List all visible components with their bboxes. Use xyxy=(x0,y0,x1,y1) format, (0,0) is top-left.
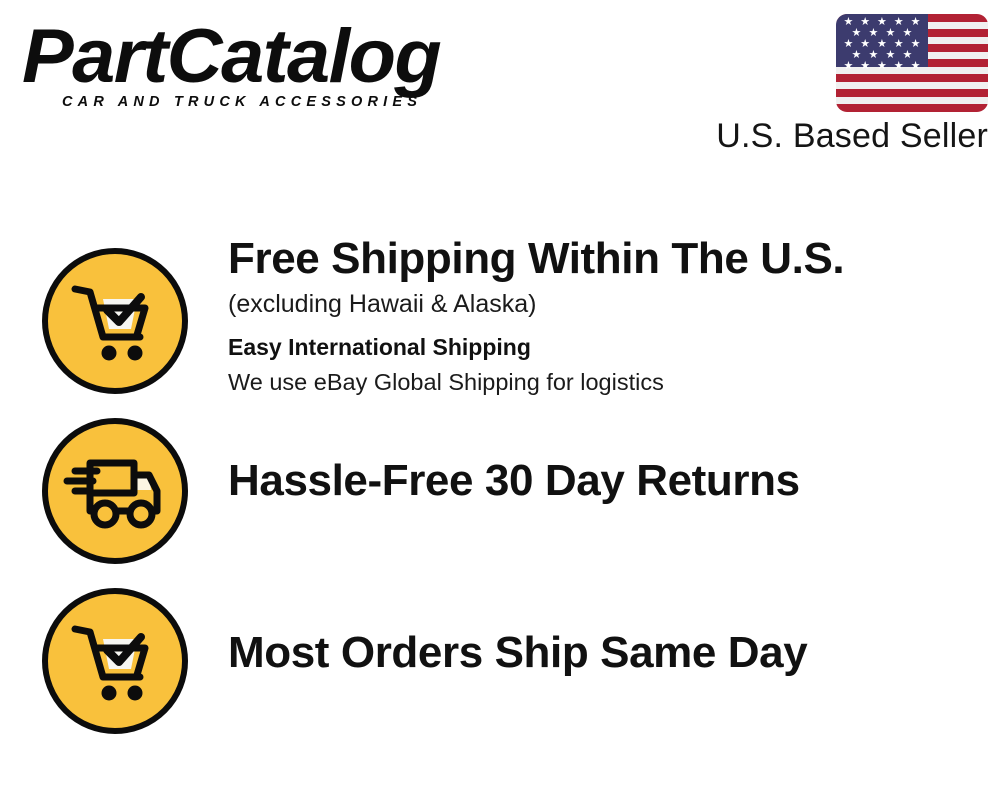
star-icon: ★ xyxy=(911,39,921,50)
logo-wordmark: PartCatalog xyxy=(22,22,501,92)
star-icon: ★ xyxy=(911,61,921,72)
benefit-heading: Hassle-Free 30 Day Returns xyxy=(228,456,1000,505)
benefit-sub-title: Easy International Shipping xyxy=(228,333,1000,363)
us-flag-icon: ★ ★ ★ ★ ★ ★ ★ ★ ★ ★ ★ ★ ★ ★ xyxy=(836,14,988,112)
shopping-cart-check-icon xyxy=(42,248,188,394)
promo-banner: PartCatalog CAR AND TRUCK ACCESSORIES ★ … xyxy=(0,0,1000,800)
benefit-heading: Free Shipping Within The U.S. xyxy=(228,234,1000,283)
benefit-heading: Most Orders Ship Same Day xyxy=(228,628,1000,677)
benefit-row: Hassle-Free 30 Day Returns xyxy=(0,408,1000,580)
star-icon: ★ xyxy=(860,61,870,72)
benefit-note: (excluding Hawaii & Alaska) xyxy=(228,288,1000,321)
benefit-sub-text: We use eBay Global Shipping for logistic… xyxy=(228,367,1000,398)
flag-canton: ★ ★ ★ ★ ★ ★ ★ ★ ★ ★ ★ ★ ★ ★ xyxy=(836,14,928,67)
benefit-row: Most Orders Ship Same Day xyxy=(0,580,1000,750)
benefit-row: Free Shipping Within The U.S. (excluding… xyxy=(0,232,1000,408)
brand-logo: PartCatalog CAR AND TRUCK ACCESSORIES xyxy=(22,22,492,110)
us-based-seller-label: U.S. Based Seller xyxy=(716,118,988,155)
star-icon: ★ xyxy=(843,61,853,72)
star-icon: ★ xyxy=(877,61,887,72)
shopping-cart-check-icon xyxy=(42,588,188,734)
flag-star-row: ★ ★ ★ ★ ★ xyxy=(840,61,924,72)
us-based-seller-badge: ★ ★ ★ ★ ★ ★ ★ ★ ★ ★ ★ ★ ★ ★ xyxy=(716,14,988,155)
benefit-text-block: Most Orders Ship Same Day xyxy=(188,580,1000,677)
delivery-truck-icon xyxy=(42,418,188,564)
star-icon: ★ xyxy=(894,61,904,72)
benefit-text-block: Free Shipping Within The U.S. (excluding… xyxy=(188,232,1000,397)
benefits-list: Free Shipping Within The U.S. (excluding… xyxy=(0,232,1000,750)
benefit-text-block: Hassle-Free 30 Day Returns xyxy=(188,408,1000,505)
star-icon: ★ xyxy=(911,17,921,28)
